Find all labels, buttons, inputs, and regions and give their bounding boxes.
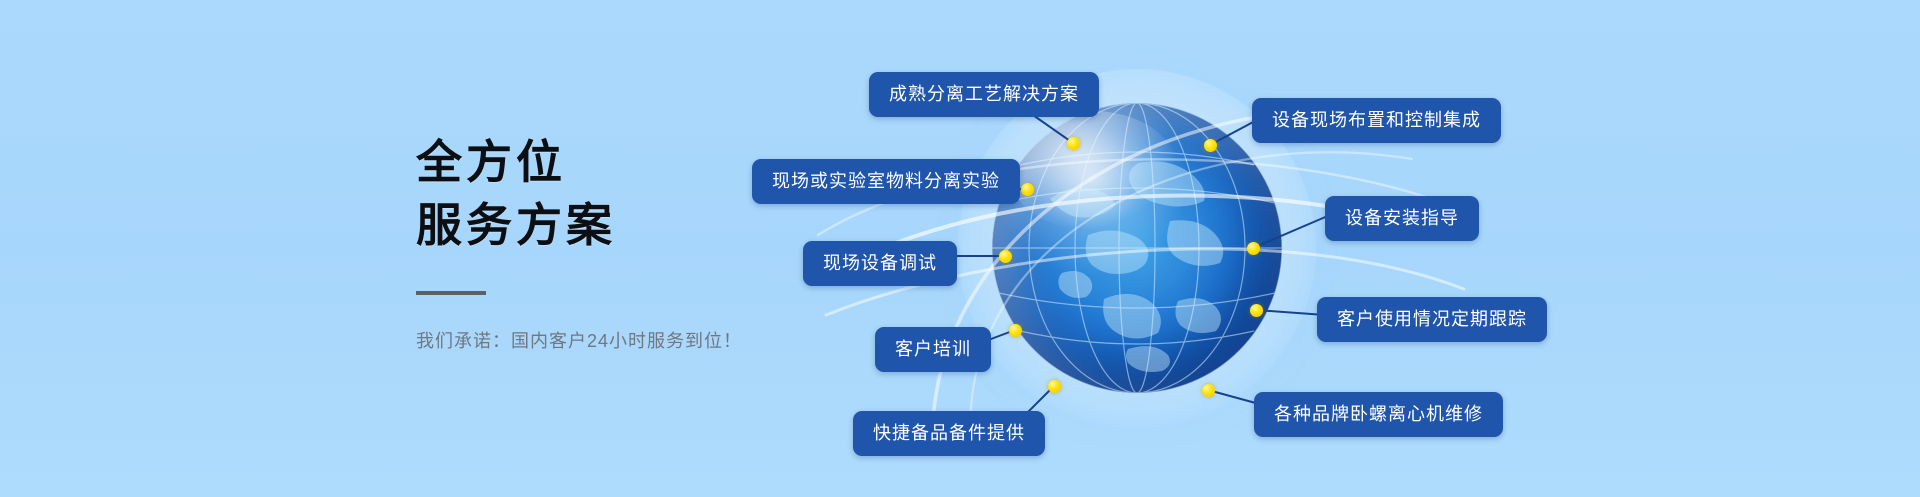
globe-icon [992,103,1282,393]
label-fast-spare-parts-supply[interactable]: 快捷备品备件提供 [853,411,1045,456]
connection-node-icon [999,250,1012,263]
connection-node-icon [1202,384,1215,397]
label-equipment-installation-guidance[interactable]: 设备安装指导 [1325,196,1479,241]
connection-node-icon [1021,183,1034,196]
globe-sphere [992,103,1282,393]
globe-graticule-icon [992,103,1282,393]
label-onsite-equipment-commissioning[interactable]: 现场设备调试 [803,241,957,286]
label-periodic-customer-usage-tracking[interactable]: 客户使用情况定期跟踪 [1317,297,1547,342]
divider-rule [416,291,486,295]
label-customer-training[interactable]: 客户培训 [875,327,991,372]
connection-node-icon [1048,380,1061,393]
label-onsite-or-lab-material-separation-test[interactable]: 现场或实验室物料分离实验 [752,159,1020,204]
connection-node-icon [1067,137,1080,150]
connection-node-icon [1204,139,1217,152]
promise-text: 我们承诺：国内客户24小时服务到位！ [416,327,846,353]
label-mature-separation-process-solution[interactable]: 成熟分离工艺解决方案 [869,72,1099,117]
connection-node-icon [1250,304,1263,317]
connection-node-icon [1247,242,1260,255]
connection-node-icon [1009,324,1022,337]
label-equipment-layout-and-control-integration[interactable]: 设备现场布置和控制集成 [1252,98,1501,143]
label-all-brand-decanter-centrifuge-repair[interactable]: 各种品牌卧螺离心机维修 [1254,392,1503,437]
service-banner: 全方位 服务方案 我们承诺：国内客户24小时服务到位！ [0,0,1920,497]
